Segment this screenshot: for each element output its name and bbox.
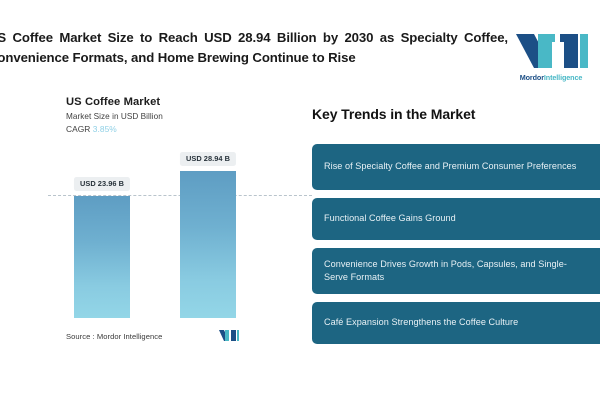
chart-panel: US Coffee Market Market Size in USD Bill…	[48, 96, 294, 354]
trend-card[interactable]: Café Expansion Strengthens the Coffee Cu…	[312, 302, 600, 344]
trend-card-label: Convenience Drives Growth in Pods, Capsu…	[324, 258, 588, 284]
bar-value-2025: USD 23.96 B	[74, 177, 130, 192]
trend-list: Rise of Specialty Coffee and Premium Con…	[312, 144, 600, 352]
slide-canvas: US Coffee Market Size to Reach USD 28.94…	[0, 0, 600, 400]
headline-line-2: Convenience Formats, and Home Brewing Co…	[0, 48, 508, 68]
trends-panel: Key Trends in the Market Rise of Special…	[303, 100, 600, 350]
logo-mark-icon	[508, 30, 594, 72]
chart-title: US Coffee Market	[66, 96, 294, 108]
headline-line-1: US Coffee Market Size to Reach USD 28.94…	[0, 28, 508, 48]
trend-card[interactable]: Convenience Drives Growth in Pods, Capsu…	[312, 248, 600, 294]
trend-card-label: Café Expansion Strengthens the Coffee Cu…	[324, 316, 518, 329]
chart-source-note: Source : Mordor Intelligence	[66, 332, 162, 341]
trend-card[interactable]: Rise of Specialty Coffee and Premium Con…	[312, 144, 600, 190]
page-title: US Coffee Market Size to Reach USD 28.94…	[0, 28, 508, 67]
bar-value-2030: USD 28.94 B	[180, 152, 236, 167]
header: US Coffee Market Size to Reach USD 28.94…	[0, 28, 600, 86]
trend-card-label: Rise of Specialty Coffee and Premium Con…	[324, 160, 576, 173]
chart-subtitle: Market Size in USD Billion	[66, 112, 294, 121]
logo-wordmark: MordorIntelligence	[508, 73, 594, 82]
bar-2025[interactable]	[74, 196, 130, 318]
logo-wordmark-secondary: Intelligence	[544, 73, 582, 82]
trend-card-label: Functional Coffee Gains Ground	[324, 212, 456, 225]
cagr-value: 3.85%	[93, 124, 117, 134]
bar-chart-plot: USD 23.96 B 2025 USD 28.94 B 2030	[48, 150, 294, 318]
cagr-label: CAGR	[66, 124, 90, 134]
cagr-row: CAGR 3.85%	[66, 124, 294, 134]
logo-wordmark-primary: Mordor	[520, 73, 544, 82]
trend-card[interactable]: Functional Coffee Gains Ground	[312, 198, 600, 240]
trends-title: Key Trends in the Market	[312, 106, 600, 122]
mordor-intelligence-logo: MordorIntelligence	[508, 30, 594, 88]
source-logo-icon	[218, 329, 240, 342]
bar-2030[interactable]	[180, 171, 236, 318]
